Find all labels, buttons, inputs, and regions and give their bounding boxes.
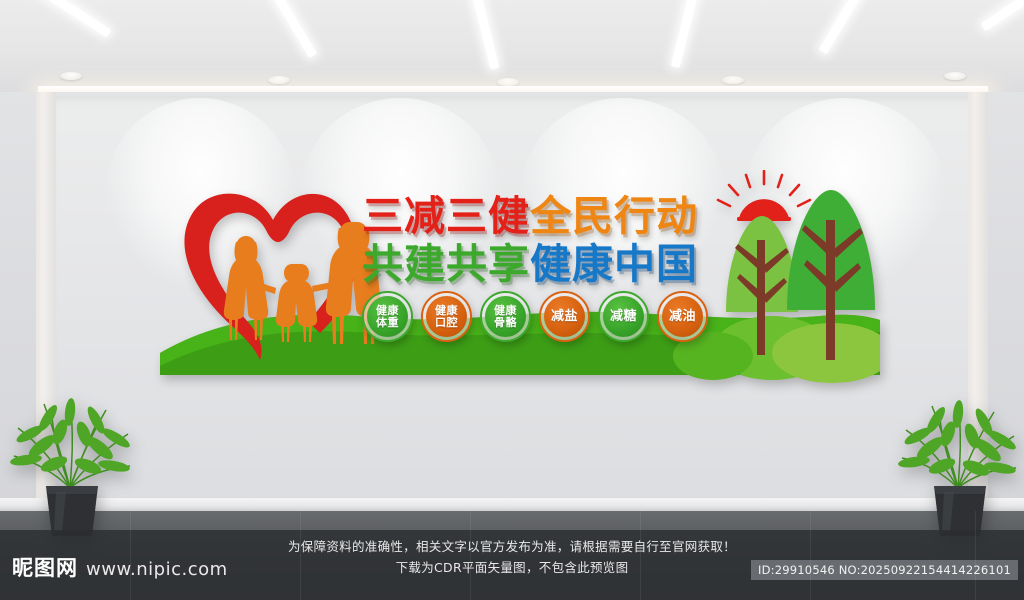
palm-leaflets-right [898,400,1018,479]
floor-tile-seam [640,511,641,600]
ceiling [0,0,1024,92]
ceiling-light-strip [671,0,720,68]
ceiling-spotlight [268,76,290,84]
ceiling-spotlight [722,76,744,84]
ceiling-light-strip [0,0,111,37]
title-segment-blue: 健康中国 [530,240,698,288]
baseboard [0,498,1024,511]
floor-tile-seam [130,511,131,600]
potted-plant-right [898,388,1020,538]
badge-reduce-sugar: 减糖 [598,291,649,342]
mural-title-block: 三减三健全民行动 共建共享健康中国 [362,196,722,285]
badge-label-line: 骨骼 [494,317,517,329]
floor-tile-seam [300,511,301,600]
title-segment-red: 三减三健 [362,192,530,240]
floor-tile-seam [975,511,976,600]
potted-plant-left [8,388,136,538]
badge-health-bones: 健康 骨骼 [480,291,531,342]
badge-label-line: 健康 [494,305,517,317]
ceiling-light-strip [819,0,904,54]
mural-title-line-1: 三减三健全民行动 [362,196,722,237]
site-logo-cn: 昵图网 [12,552,78,582]
title-segment-green: 共建共享 [362,240,530,288]
mural-title-line-2: 共建共享健康中国 [362,244,722,285]
title-segment-orange: 全民行动 [530,192,698,240]
badge-health-weight: 健康 体重 [362,291,413,342]
floor-tile-seam [470,511,471,600]
sun-body-graphic [739,199,789,218]
badge-label-line: 健康 [376,305,399,317]
ceiling-spotlight [60,72,82,80]
badge-health-oral: 健康 口腔 [421,291,472,342]
site-logo[interactable]: 昵图网 www.nipic.com [12,552,228,582]
ceiling-spotlight [497,78,519,86]
badge-reduce-salt: 减盐 [539,291,590,342]
site-logo-url: www.nipic.com [86,559,228,580]
badge-label-line: 减糖 [610,310,637,324]
badge-label-line: 健康 [435,305,458,317]
ceiling-light-strip [981,0,1024,31]
badge-label-line: 减盐 [551,310,578,324]
mural-badge-row: 健康 体重 健康 口腔 健康 骨骼 减盐 减糖 [362,291,708,342]
screenshot-stage: 三减三健全民行动 共建共享健康中国 健康 体重 健康 口腔 健康 骨骼 [0,0,1024,600]
badge-label-line: 减油 [669,310,696,324]
badge-label-line: 体重 [376,317,399,329]
ceiling-light-strip [233,0,317,58]
badge-reduce-oil: 减油 [657,291,708,342]
floor-tile-seam [810,511,811,600]
ceiling-spotlight [944,72,966,80]
badge-label-line: 口腔 [435,317,458,329]
asset-id-badge: ID:29910546 NO:20250922154414226101 [751,560,1018,580]
ceiling-light-strip [452,0,499,70]
